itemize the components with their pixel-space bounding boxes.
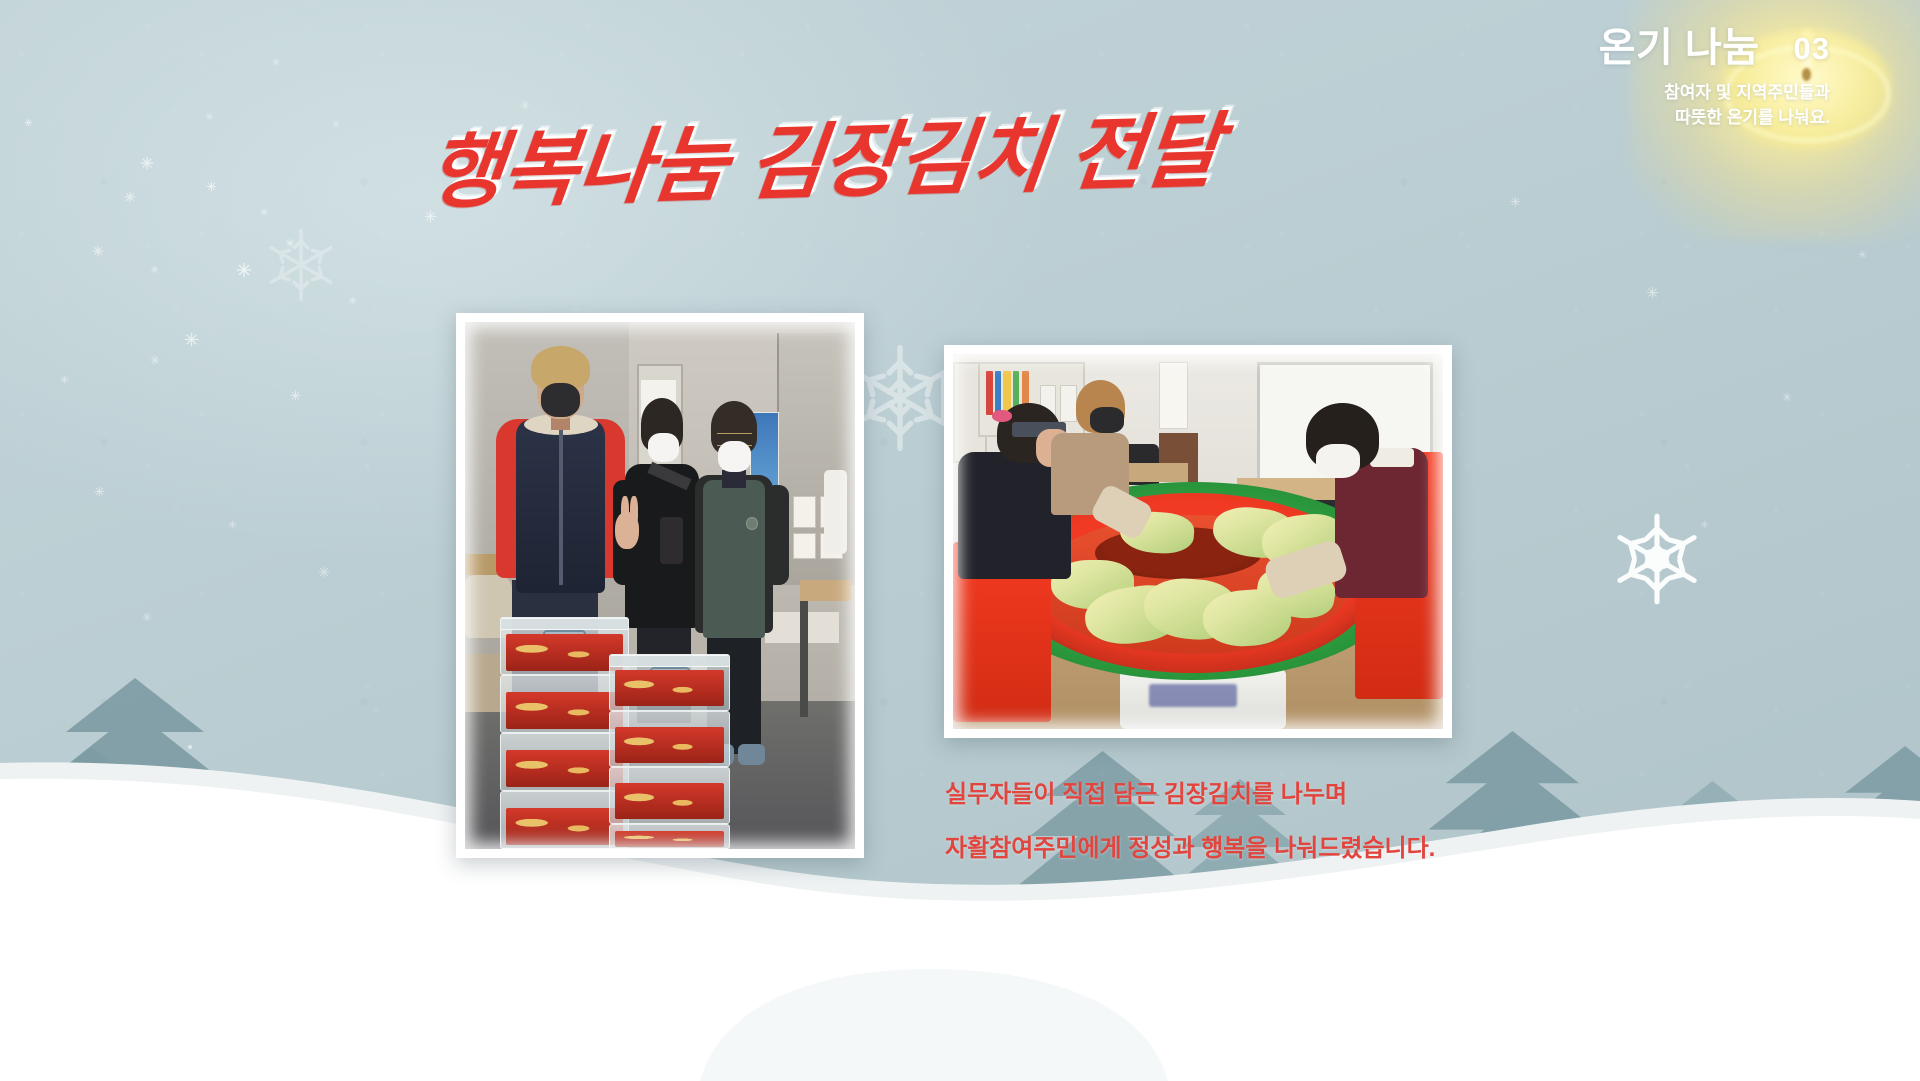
snowflake-icon xyxy=(228,520,237,529)
photo-person-2-finger-1 xyxy=(621,496,629,528)
snowflake-icon xyxy=(24,118,33,127)
slide-caption: 실무자들이 직접 담근 김장김치를 나누며 자활참여주민에게 정성과 행복을 나… xyxy=(945,783,1435,861)
snowflake-icon xyxy=(1782,392,1792,402)
photo-person-1-mask xyxy=(541,383,580,417)
photo-person-3-neck xyxy=(722,470,745,488)
snowflake-icon xyxy=(140,156,154,170)
snowflake-icon xyxy=(205,112,214,121)
photo-person-3-arm xyxy=(765,485,788,585)
header-subtitle: 참여자 및 지역주민들과 따뜻한 온기를 나눠요. xyxy=(1599,81,1830,130)
photo-person-3-badge xyxy=(746,517,758,530)
snowflake-icon xyxy=(332,120,340,128)
photo-bag-print xyxy=(1149,684,1237,707)
snowflake-icon xyxy=(184,332,199,347)
snowflake-icon xyxy=(348,296,357,305)
header-subtitle-line-2: 따뜻한 온기를 나눠요. xyxy=(1599,106,1830,131)
caption-line-2: 자활참여주민에게 정성과 행복을 나눠드렸습니다. xyxy=(945,837,1435,861)
snowflake-icon xyxy=(142,612,152,622)
snowflake-icon xyxy=(206,181,217,192)
snowflake-icon xyxy=(236,262,252,278)
photo-person-3-apron xyxy=(703,480,765,638)
photo-person-1-zipper xyxy=(559,427,564,585)
snowflake-icon xyxy=(1858,250,1867,259)
snowflake-icon xyxy=(124,191,136,203)
snowflake-icon xyxy=(1606,508,1708,610)
slide-number: 03 xyxy=(1794,33,1830,64)
slide-header: 온기 나눔 03 참여자 및 지역주민들과 따뜻한 온기를 나눠요. xyxy=(1599,28,1830,130)
photo-worker-2-mask xyxy=(1090,407,1124,433)
snowflake-icon xyxy=(285,238,295,248)
photo-left-content xyxy=(465,322,855,849)
page-title: 행복나눔 김장김치 전달 xyxy=(422,84,1226,225)
photo-right-content xyxy=(953,354,1443,729)
snowflake-icon xyxy=(1646,286,1659,299)
snowflake-icon xyxy=(290,390,301,401)
snowflake-icon xyxy=(1700,520,1709,529)
photo-kimjang-making[interactable] xyxy=(944,345,1452,738)
photo-person-2-mask xyxy=(648,433,679,462)
photo-table xyxy=(800,580,851,601)
photo-person-3-shoe-right xyxy=(738,744,765,765)
snowflake-icon xyxy=(260,208,268,216)
photo-stand xyxy=(800,601,808,717)
photo-person-3-mask xyxy=(718,441,751,473)
snowflake-icon xyxy=(150,265,159,274)
photo-worker-1-hairtie xyxy=(992,410,1012,421)
snowflake-icon xyxy=(150,355,160,365)
snowflake-icon xyxy=(1510,196,1521,207)
snowflake-icon xyxy=(94,486,105,497)
photo-wall-notice xyxy=(1159,362,1188,430)
snowflake-icon xyxy=(272,58,280,66)
snowflake-icon xyxy=(258,222,344,308)
snowflake-icon xyxy=(60,375,69,384)
photo-notice-1 xyxy=(793,496,816,528)
slide-canvas: 온기 나눔 03 참여자 및 지역주민들과 따뜻한 온기를 나눠요. 행복나눔 … xyxy=(0,0,1920,1081)
photo-sanitizer xyxy=(824,470,847,554)
snowflake-icon xyxy=(92,245,104,257)
snowflake-icon xyxy=(318,566,330,578)
photo-person-2-bag xyxy=(660,517,683,564)
photo-person-2-finger-2 xyxy=(630,496,638,528)
photo-kimchi-stack-right xyxy=(609,654,730,849)
caption-line-1: 실무자들이 직접 담근 김장김치를 나누며 xyxy=(945,783,1435,807)
photo-notice-3 xyxy=(793,533,816,559)
header-title: 온기 나눔 xyxy=(1599,28,1760,68)
header-subtitle-line-1: 참여자 및 지역주민들과 xyxy=(1599,81,1830,106)
photo-kimchi-handover[interactable] xyxy=(456,313,864,858)
photo-worker-3-mask xyxy=(1316,444,1360,478)
